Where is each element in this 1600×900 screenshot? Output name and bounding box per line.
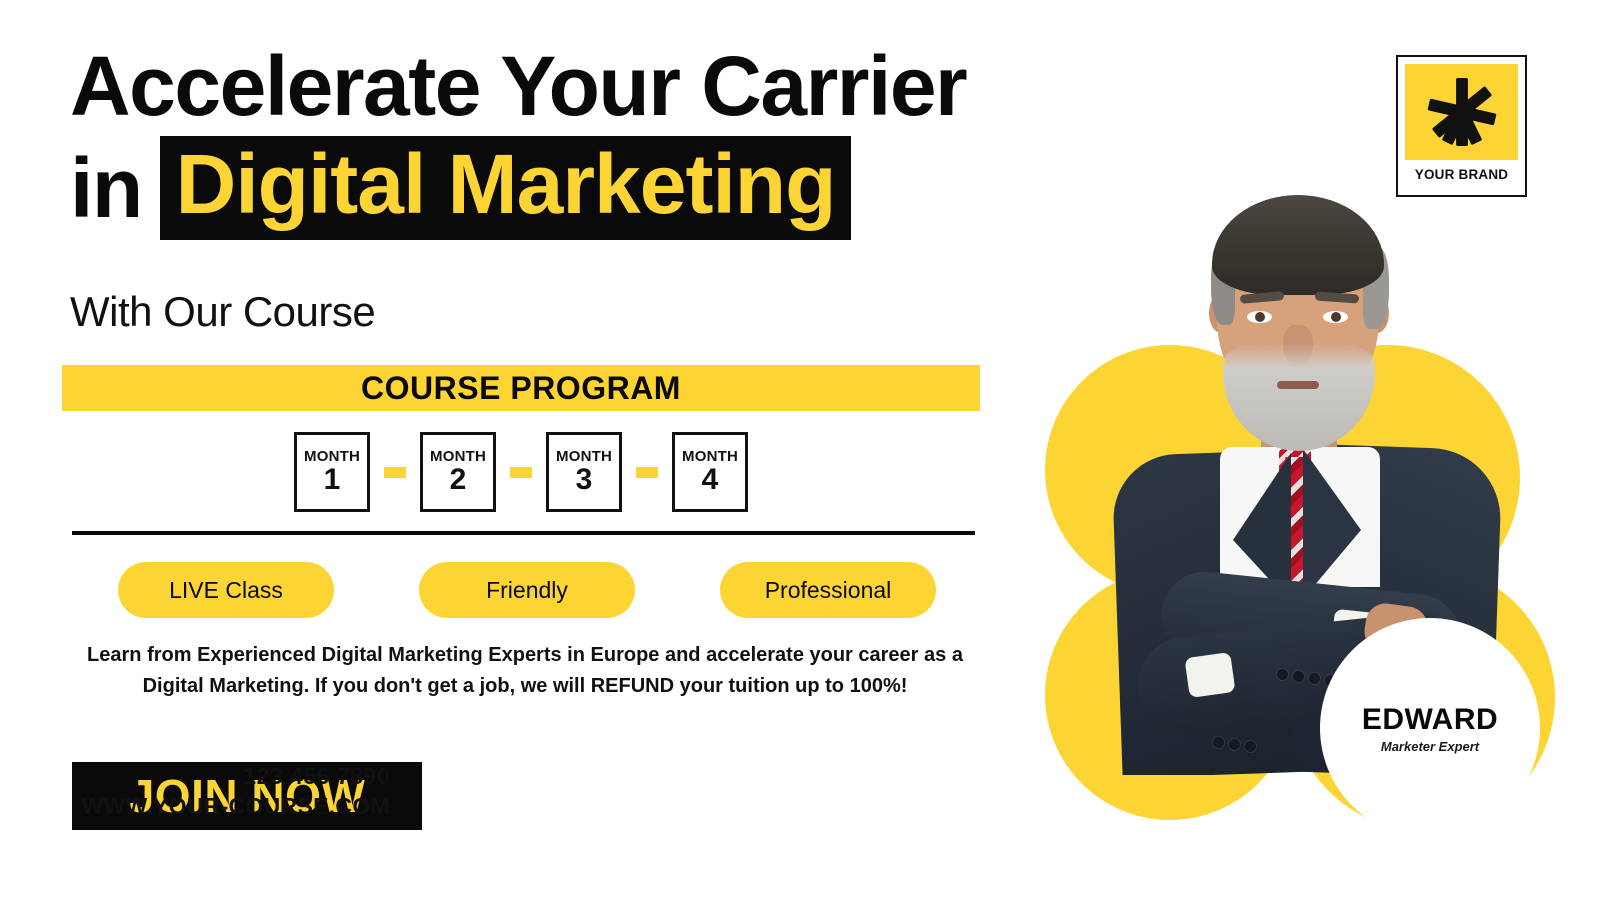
sleeve-button-3 xyxy=(1309,673,1320,684)
sleeve-button-7 xyxy=(1245,741,1256,752)
feature-pill-live-class[interactable]: LIVE Class xyxy=(118,562,334,618)
feature-pill-professional[interactable]: Professional xyxy=(720,562,936,618)
sleeve-button-2 xyxy=(1293,671,1304,682)
sleeve-button-5 xyxy=(1213,737,1224,748)
shirt-cuff-left xyxy=(1184,652,1235,698)
feature-pill-label-3: Professional xyxy=(765,577,892,604)
month-label-3: MONTH xyxy=(556,449,612,464)
month-number-2: 2 xyxy=(450,465,467,495)
feature-pill-label-1: LIVE Class xyxy=(169,577,283,604)
hair xyxy=(1212,195,1384,295)
month-connector-dash-2 xyxy=(510,467,532,478)
headline-block: Accelerate Your Carrier in Digital Marke… xyxy=(70,44,1000,240)
pupil-left xyxy=(1255,312,1265,322)
contact-block: 123 456 7890 WWW.YOUR-COURSE.COM xyxy=(81,762,390,822)
month-box-1[interactable]: MONTH 1 xyxy=(294,432,370,512)
presenter-name-badge: EDWARD Marketer Expert xyxy=(1320,618,1540,838)
sleeve-button-6 xyxy=(1229,739,1240,750)
headline-line-2: in Digital Marketing xyxy=(70,136,1000,240)
course-program-bar: COURSE PROGRAM xyxy=(62,365,980,411)
beard xyxy=(1223,343,1375,451)
eye-left xyxy=(1247,311,1272,323)
presenter-role: Marketer Expert xyxy=(1381,739,1479,754)
headline-connector-word: in xyxy=(70,146,160,230)
month-box-3[interactable]: MONTH 3 xyxy=(546,432,622,512)
subheadline: With Our Course xyxy=(70,288,375,336)
left-content-column: Accelerate Your Carrier in Digital Marke… xyxy=(0,0,1010,900)
month-label-1: MONTH xyxy=(304,449,360,464)
sleeve-button-1 xyxy=(1277,669,1288,680)
month-number-4: 4 xyxy=(702,465,719,495)
mouth xyxy=(1277,381,1319,389)
month-connector-dash-3 xyxy=(636,467,658,478)
month-number-1: 1 xyxy=(324,465,341,495)
month-timeline: MONTH 1 MONTH 2 MONTH 3 MONTH 4 xyxy=(62,432,980,512)
course-program-label: COURSE PROGRAM xyxy=(361,370,681,407)
month-connector-dash-1 xyxy=(384,467,406,478)
pupil-right xyxy=(1331,312,1341,322)
contact-website[interactable]: WWW.YOUR-COURSE.COM xyxy=(81,792,390,822)
feature-pill-friendly[interactable]: Friendly xyxy=(419,562,635,618)
eye-right xyxy=(1323,311,1348,323)
presenter-name: EDWARD xyxy=(1362,703,1498,737)
contact-phone[interactable]: 123 456 7890 xyxy=(81,762,390,792)
headline-line-1: Accelerate Your Carrier xyxy=(70,44,1000,130)
section-divider xyxy=(72,531,975,535)
feature-pill-row: LIVE Class Friendly Professional xyxy=(118,562,980,618)
month-number-3: 3 xyxy=(576,465,593,495)
presenter-visual: EDWARD Marketer Expert xyxy=(1010,0,1600,900)
month-label-2: MONTH xyxy=(430,449,486,464)
headline-highlight-digital-marketing: Digital Marketing xyxy=(160,136,852,240)
month-box-2[interactable]: MONTH 2 xyxy=(420,432,496,512)
month-label-4: MONTH xyxy=(682,449,738,464)
month-box-4[interactable]: MONTH 4 xyxy=(672,432,748,512)
description-paragraph: Learn from Experienced Digital Marketing… xyxy=(72,640,978,702)
feature-pill-label-2: Friendly xyxy=(486,577,568,604)
promo-poster: Accelerate Your Carrier in Digital Marke… xyxy=(0,0,1600,900)
